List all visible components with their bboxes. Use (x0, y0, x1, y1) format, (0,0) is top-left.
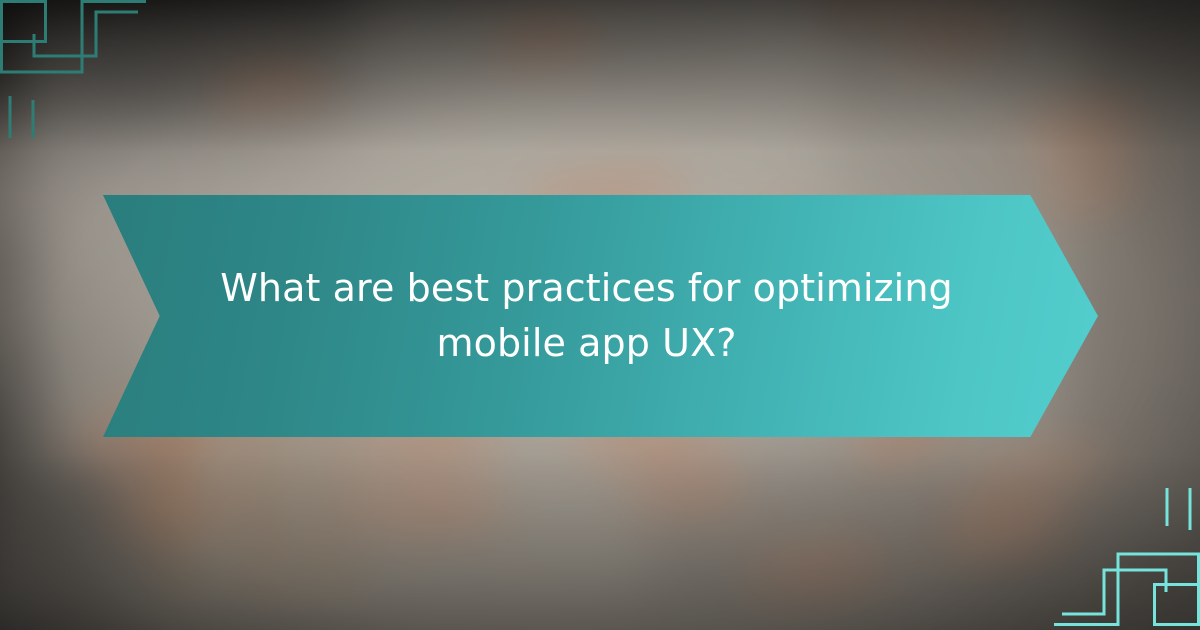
headline-text: What are best practices for optimizing m… (211, 261, 991, 372)
headline-banner: What are best practices for optimizing m… (103, 195, 1098, 437)
corner-bracket-icon (1040, 466, 1200, 626)
corner-bracket-icon (0, 0, 160, 160)
social-card: What are best practices for optimizing m… (0, 0, 1200, 630)
corner-bracket-bottom-right (1040, 466, 1200, 630)
corner-bracket-top-left (0, 0, 160, 164)
